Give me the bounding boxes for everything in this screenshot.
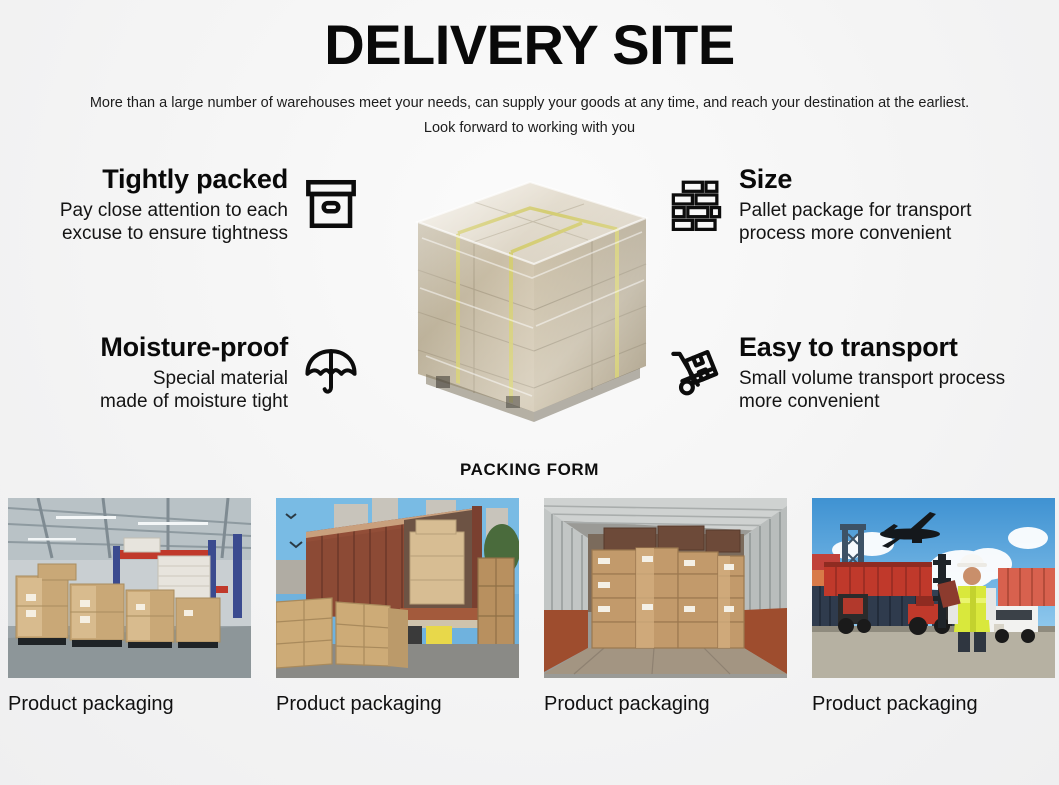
subtitle-line-2: Look forward to working with you bbox=[40, 116, 1020, 141]
feature-moisture-proof: Moisture-proof Special material made of … bbox=[0, 332, 360, 413]
gallery-item[interactable]: Product packaging bbox=[276, 498, 519, 716]
feature-desc-line-2: excuse to ensure tightness bbox=[60, 222, 288, 245]
feature-desc-line-1: Pay close attention to each bbox=[60, 199, 288, 222]
feature-desc-line-2: made of moisture tight bbox=[100, 390, 288, 413]
header: DELIVERY SITE More than a large number o… bbox=[0, 0, 1059, 142]
header-subtitle: More than a large number of warehouses m… bbox=[40, 91, 1020, 142]
feature-text: Moisture-proof Special material made of … bbox=[100, 332, 302, 413]
loaded-container-interior-photo[interactable] bbox=[544, 498, 787, 678]
umbrella-icon bbox=[302, 343, 360, 401]
packing-form-gallery: Product packaging bbox=[0, 498, 1059, 716]
gallery-item[interactable]: Product packaging bbox=[812, 498, 1055, 716]
port-logistics-photo[interactable] bbox=[812, 498, 1055, 678]
packing-form-heading: PACKING FORM bbox=[0, 460, 1059, 480]
feature-desc-line-1: Pallet package for transport bbox=[739, 199, 971, 222]
gallery-caption: Product packaging bbox=[276, 692, 519, 716]
container-loading-photo[interactable] bbox=[276, 498, 519, 678]
shrink-wrapped-pallet-photo bbox=[396, 160, 664, 440]
feature-grid: Tightly packed Pay close attention to ea… bbox=[0, 156, 1059, 456]
feature-title: Size bbox=[739, 164, 971, 195]
feature-title: Easy to transport bbox=[739, 332, 1005, 363]
feature-title: Tightly packed bbox=[60, 164, 288, 195]
warehouse-interior-photo[interactable] bbox=[8, 498, 251, 678]
gallery-item[interactable]: Product packaging bbox=[8, 498, 251, 716]
feature-desc-line-1: Special material bbox=[100, 367, 288, 390]
feature-desc-line-1: Small volume transport process bbox=[739, 367, 1005, 390]
gallery-item[interactable]: Product packaging bbox=[544, 498, 787, 716]
feature-text: Tightly packed Pay close attention to ea… bbox=[60, 164, 302, 245]
hand-truck-icon bbox=[667, 343, 725, 401]
feature-text: Easy to transport Small volume transport… bbox=[725, 332, 1005, 413]
delivery-site-banner: DELIVERY SITE More than a large number o… bbox=[0, 0, 1059, 785]
feature-size: Size Pallet package for transport proces… bbox=[667, 164, 1059, 245]
feature-title: Moisture-proof bbox=[100, 332, 288, 363]
archive-box-icon bbox=[302, 175, 360, 233]
feature-text: Size Pallet package for transport proces… bbox=[725, 164, 971, 245]
gallery-caption: Product packaging bbox=[812, 692, 1055, 716]
subtitle-line-1: More than a large number of warehouses m… bbox=[90, 95, 969, 111]
brick-wall-icon bbox=[667, 175, 725, 233]
gallery-caption: Product packaging bbox=[544, 692, 787, 716]
feature-desc-line-2: process more convenient bbox=[739, 222, 971, 245]
page-title: DELIVERY SITE bbox=[0, 16, 1059, 75]
feature-desc-line-2: more convenient bbox=[739, 390, 1005, 413]
gallery-caption: Product packaging bbox=[8, 692, 251, 716]
feature-tightly-packed: Tightly packed Pay close attention to ea… bbox=[0, 164, 360, 245]
feature-easy-to-transport: Easy to transport Small volume transport… bbox=[667, 332, 1059, 413]
